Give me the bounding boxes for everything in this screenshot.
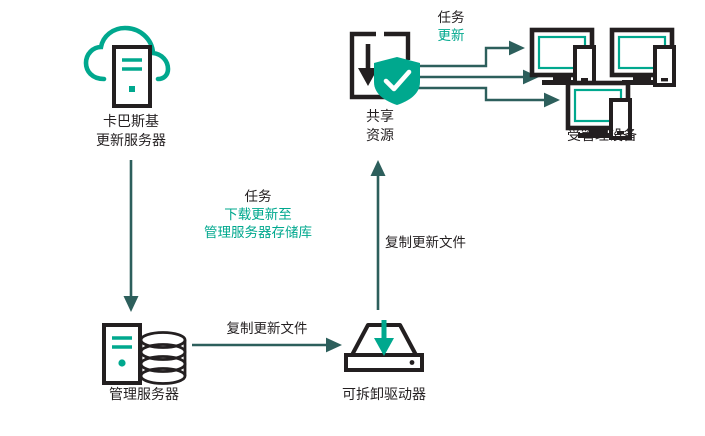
- label-managed-devices-line-1: 受管理设备: [527, 127, 677, 146]
- connector-label-copy-to-drive-detail-1: 复制更新文件: [185, 320, 349, 338]
- connector-label-update-devices-task: 任务: [396, 9, 506, 27]
- label-shared-resource-line-1: 共享: [305, 108, 455, 127]
- label-update-server-line-1: 卡巴斯基: [56, 113, 206, 132]
- connector-copy-to-drive: [192, 338, 342, 353]
- connector-label-update-devices: 任务 更新: [396, 9, 506, 45]
- connector-label-copy-to-share-detail-1: 复制更新文件: [385, 234, 515, 252]
- connector-label-download-updates-task: 任务: [143, 188, 373, 206]
- monitor-phone-icon: [532, 30, 594, 85]
- label-removable-drive: 可拆卸驱动器: [309, 386, 459, 405]
- label-shared-resource: 共享 资源: [305, 108, 455, 146]
- connector-label-download-updates-detail-2: 管理服务器存储库: [143, 224, 373, 242]
- connector-label-update-devices-detail-1: 更新: [396, 27, 506, 45]
- label-shared-resource-line-2: 资源: [305, 127, 455, 146]
- connector-download-updates: [124, 160, 139, 312]
- label-update-server-line-2: 更新服务器: [56, 132, 206, 151]
- monitor-phone-icon: [612, 30, 674, 85]
- label-administration-server-line-1: 管理服务器: [69, 386, 219, 405]
- label-managed-devices: 受管理设备: [527, 127, 677, 146]
- connector-label-download-updates-detail-1: 下载更新至: [143, 206, 373, 224]
- server-database-icon: [104, 325, 185, 384]
- label-removable-drive-line-1: 可拆卸驱动器: [309, 386, 459, 405]
- connector-label-copy-to-share: 复制更新文件: [385, 234, 515, 252]
- connector-label-download-updates: 任务 下载更新至 管理服务器存储库: [143, 188, 373, 242]
- cloud-server-icon: [86, 28, 168, 106]
- connector-label-copy-to-drive: 复制更新文件: [185, 320, 349, 338]
- label-administration-server: 管理服务器: [69, 386, 219, 405]
- label-update-server: 卡巴斯基 更新服务器: [56, 113, 206, 151]
- removable-drive-icon: [346, 320, 422, 370]
